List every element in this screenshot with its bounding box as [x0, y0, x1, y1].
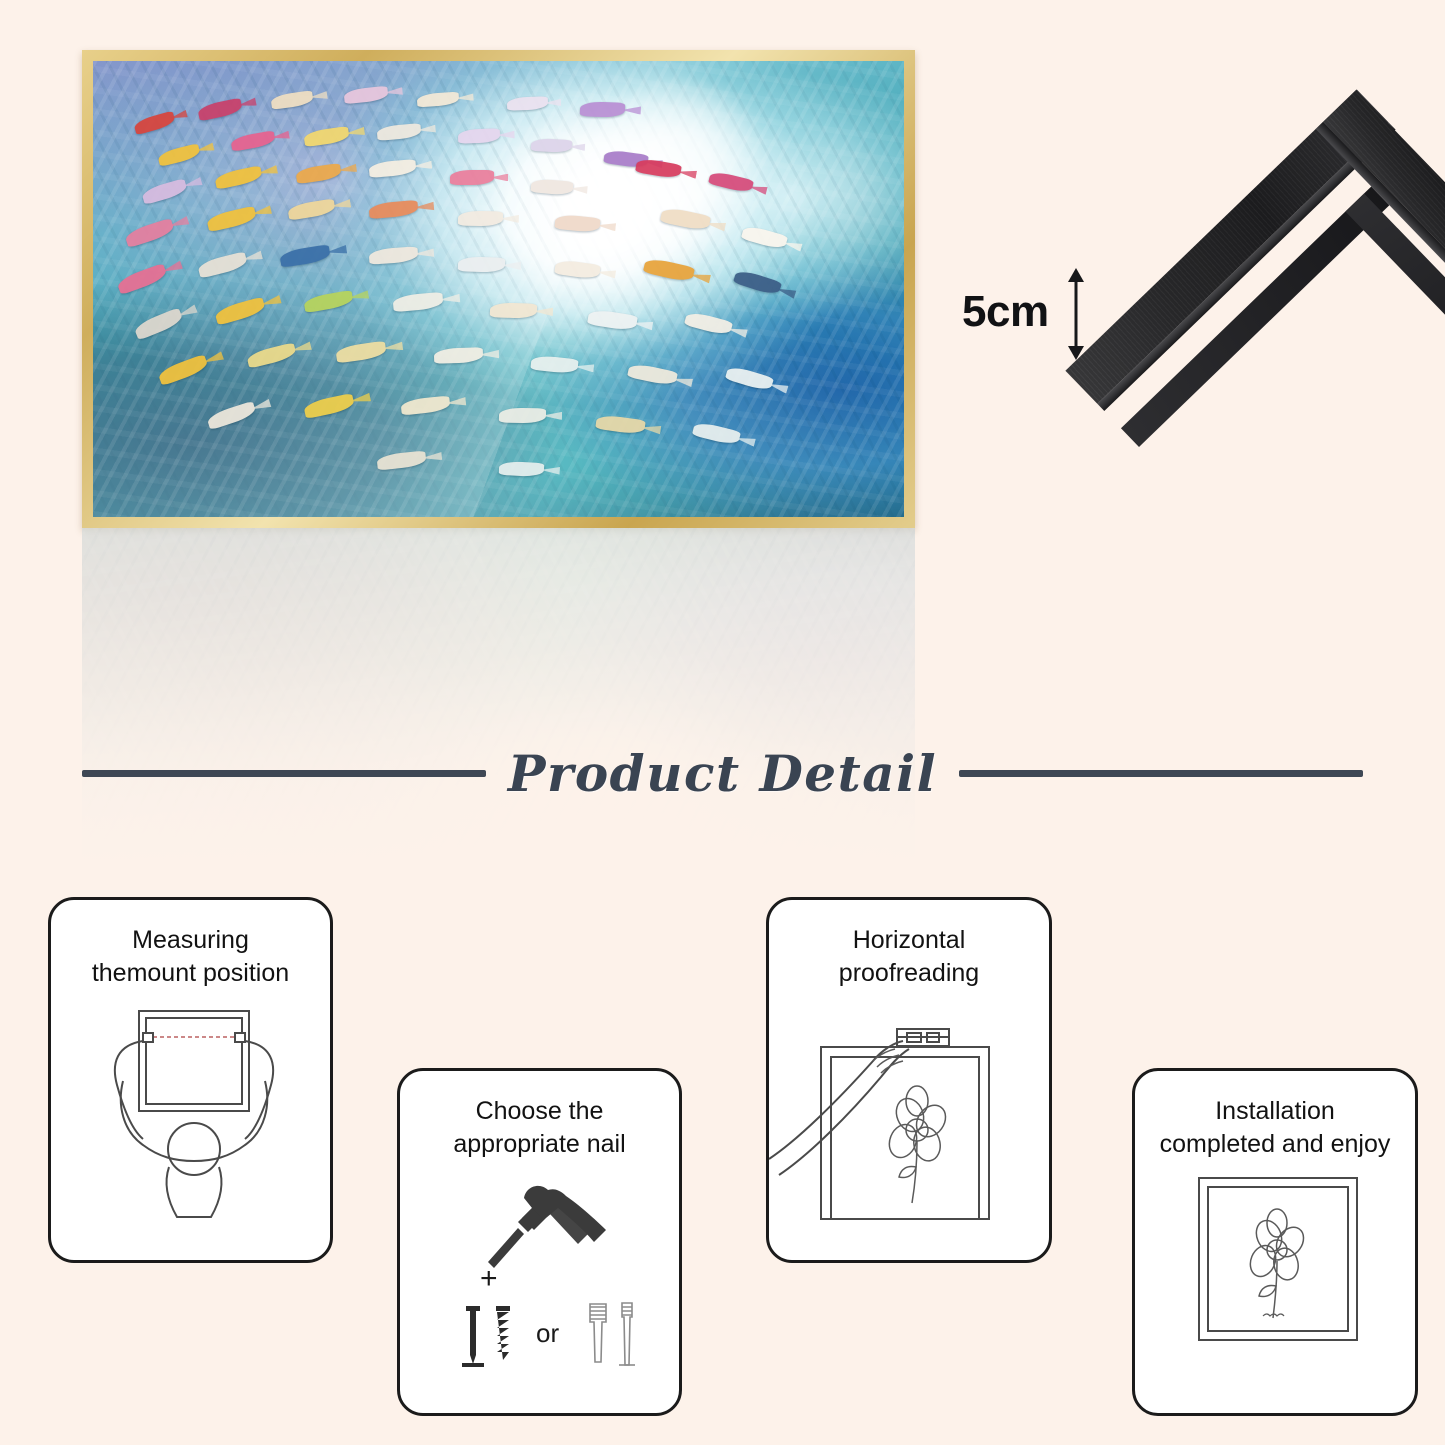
painting-canvas — [93, 61, 904, 517]
card-title: Horizontal proofreading — [769, 900, 1049, 989]
fish — [498, 407, 545, 422]
framed-flower-picture-icon — [1135, 1160, 1415, 1395]
step-card-measuring[interactable]: Measuring themount position — [48, 897, 333, 1263]
card-title: Installation completed and enjoy — [1135, 1071, 1415, 1160]
fish — [450, 170, 494, 184]
fish — [490, 302, 538, 319]
product-detail-page: 5cm Product Detail Measuring themount po… — [0, 0, 1445, 1445]
step-card-choose-nail[interactable]: Choose the appropriate nail + — [397, 1068, 682, 1416]
plus-symbol: + — [480, 1262, 498, 1295]
or-label: or — [536, 1318, 559, 1348]
fish — [530, 178, 573, 195]
fish — [579, 101, 625, 117]
fish — [531, 137, 572, 152]
step-card-horizontal-proofreading[interactable]: Horizontal proofreading — [766, 897, 1052, 1263]
card-title: Choose the appropriate nail — [400, 1071, 679, 1160]
painting-reflection-watermark — [82, 528, 915, 868]
fish — [498, 461, 544, 477]
hero-framed-painting[interactable] — [82, 50, 915, 528]
hand-with-bubble-level-on-frame-icon — [769, 989, 1049, 1244]
section-heading: Product Detail — [0, 740, 1445, 806]
page-title: Product Detail — [508, 744, 937, 803]
heading-rule-left — [82, 770, 486, 777]
heading-rule-right — [959, 770, 1363, 777]
gold-frame — [82, 50, 915, 528]
step-card-installation-complete[interactable]: Installation completed and enjoy — [1132, 1068, 1418, 1416]
dimension-label: 5cm — [962, 290, 1049, 334]
frame-depth-dimension: 5cm — [962, 278, 1082, 358]
card-title: Measuring themount position — [51, 900, 330, 989]
person-holding-frame-measuring-icon — [51, 989, 330, 1244]
vertical-double-arrow-icon — [1064, 268, 1088, 365]
hammer-nail-screw-icon: + or — [400, 1160, 679, 1395]
